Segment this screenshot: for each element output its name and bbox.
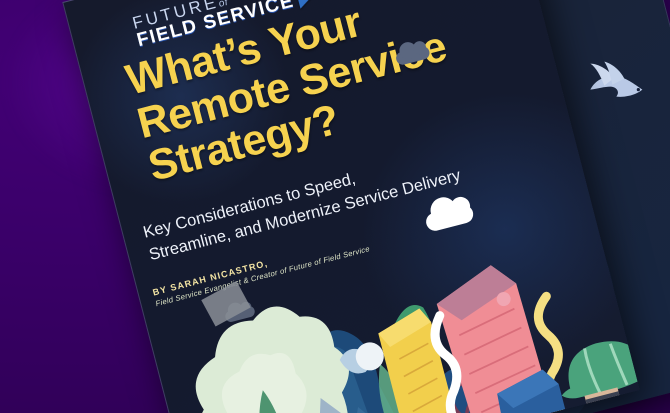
arrow-right-icon — [296, 0, 314, 9]
cover-content: FUTUREof FIELD SERVICE What’s Your Remot… — [63, 0, 639, 413]
cover-mockup-stage: FUTUREof FIELD SERVICE What’s Your Remot… — [0, 0, 670, 413]
report-cover-front[interactable]: FUTUREof FIELD SERVICE What’s Your Remot… — [62, 0, 639, 413]
